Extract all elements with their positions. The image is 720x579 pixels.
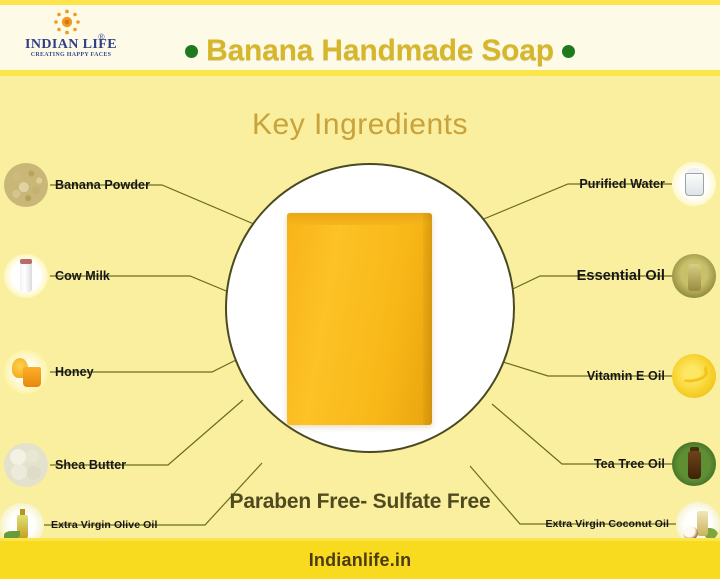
milk-bottle-icon bbox=[4, 254, 48, 298]
ingredient-label: Extra Virgin Coconut Oil bbox=[538, 518, 676, 530]
bullet-dot-left-icon bbox=[185, 45, 198, 58]
ingredient-honey[interactable]: Honey bbox=[4, 349, 101, 395]
page-title: Banana Handmade Soap bbox=[206, 34, 554, 68]
tea-tree-oil-bottle-icon bbox=[672, 442, 716, 486]
honey-jar-icon bbox=[4, 350, 48, 394]
brand-tagline: CREATING HAPPY FACES bbox=[16, 52, 126, 58]
ingredient-label: Extra Virgin Olive Oil bbox=[44, 519, 164, 531]
ingredient-essential-oil[interactable]: Essential Oil bbox=[570, 253, 716, 299]
ingredient-label: Honey bbox=[48, 365, 101, 379]
banana-powder-icon bbox=[4, 163, 48, 207]
product-claims: Paraben Free- Sulfate Free bbox=[0, 490, 720, 514]
ingredient-label: Purified Water bbox=[572, 177, 672, 191]
banana-bunch-icon bbox=[672, 354, 716, 398]
ingredient-label: Vitamin E Oil bbox=[580, 369, 672, 383]
ingredient-vitamin-e-oil[interactable]: Vitamin E Oil bbox=[580, 353, 716, 399]
ingredient-purified-water[interactable]: Purified Water bbox=[572, 161, 716, 207]
header-top-strip bbox=[0, 0, 720, 5]
ingredient-tea-tree-oil[interactable]: Tea Tree Oil bbox=[587, 441, 716, 487]
title-block: Banana Handmade Soap bbox=[150, 30, 610, 72]
section-heading: Key Ingredients bbox=[0, 108, 720, 142]
ingredient-label: Tea Tree Oil bbox=[587, 457, 672, 471]
ingredient-banana-powder[interactable]: Banana Powder bbox=[4, 162, 157, 208]
website-link[interactable]: Indianlife.in bbox=[309, 550, 412, 571]
brand-logo: INDIAN LIFE ® CREATING HAPPY FACES bbox=[16, 8, 126, 66]
ingredient-label: Banana Powder bbox=[48, 178, 157, 192]
ingredient-shea-butter[interactable]: Shea Butter bbox=[4, 442, 133, 488]
ingredient-cow-milk[interactable]: Cow Milk bbox=[4, 253, 117, 299]
brand-name: INDIAN LIFE bbox=[16, 37, 126, 52]
ingredient-label: Cow Milk bbox=[48, 269, 117, 283]
poster-canvas: INDIAN LIFE ® CREATING HAPPY FACES Banan… bbox=[0, 0, 720, 579]
poster-header: INDIAN LIFE ® CREATING HAPPY FACES Banan… bbox=[0, 0, 720, 76]
registered-mark-icon: ® bbox=[98, 32, 105, 42]
sun-flower-icon bbox=[52, 8, 82, 36]
essential-oil-bottle-icon bbox=[672, 254, 716, 298]
banana-soap-bar-image bbox=[287, 213, 432, 425]
poster-footer: Indianlife.in bbox=[0, 538, 720, 579]
ingredient-label: Essential Oil bbox=[570, 268, 672, 284]
bullet-dot-right-icon bbox=[562, 45, 575, 58]
shea-butter-icon bbox=[4, 443, 48, 487]
water-glass-icon bbox=[672, 162, 716, 206]
ingredient-label: Shea Butter bbox=[48, 458, 133, 472]
